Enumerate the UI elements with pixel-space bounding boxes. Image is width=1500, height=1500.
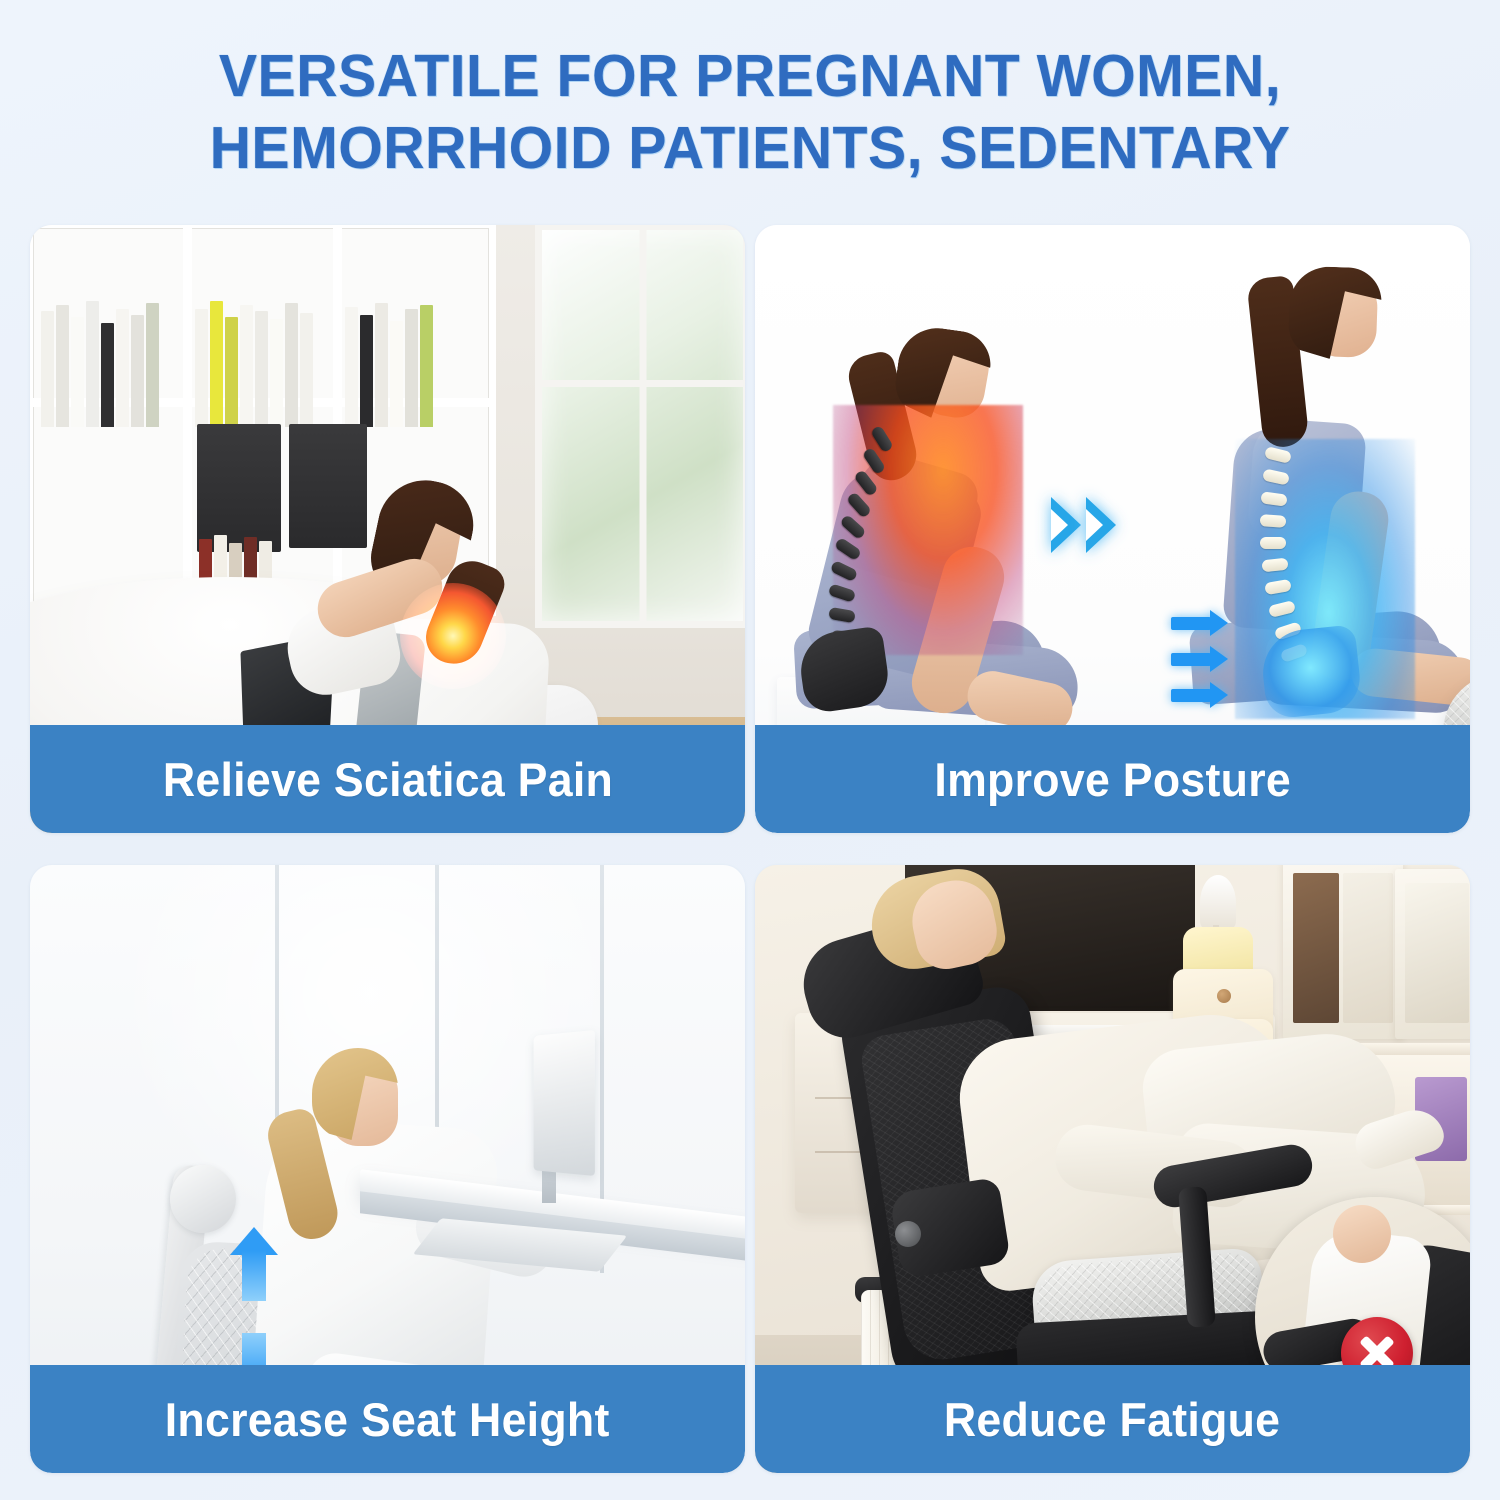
picture-frame-2 — [1395, 869, 1470, 1039]
window — [535, 225, 745, 628]
chevron-arrows — [1051, 497, 1116, 553]
arrow-up-icon — [230, 1227, 278, 1305]
lumbar-adjust-knob — [895, 1221, 921, 1247]
monitor — [534, 1030, 595, 1176]
picture-frame-1 — [1283, 865, 1403, 1039]
pain-glow-neck — [400, 583, 506, 689]
desk-lamp — [1200, 875, 1236, 931]
caption-label-4: Reduce Fatigue — [944, 1392, 1280, 1447]
chevron-icon-2 — [1086, 497, 1116, 553]
support-arrow-1 — [1171, 617, 1211, 630]
caption-label-3: Increase Seat Height — [165, 1392, 610, 1447]
support-arrow-2 — [1171, 653, 1211, 666]
panel-relieve-sciatica-pain[interactable]: Relieve Sciatica Pain — [30, 225, 745, 833]
support-arrow-3 — [1171, 689, 1211, 702]
panel-increase-seat-height[interactable]: Increase Seat Height — [30, 865, 745, 1473]
headline-line-1: VERSATILE FOR PREGNANT WOMEN, — [81, 40, 1420, 112]
caption-label-1: Relieve Sciatica Pain — [162, 752, 612, 807]
caption-bar-3: Increase Seat Height — [30, 1365, 745, 1473]
caption-bar-4: Reduce Fatigue — [755, 1365, 1470, 1473]
headline-line-2: HEMORRHOID PATIENTS, SEDENTARY — [81, 112, 1420, 184]
caption-bar-1: Relieve Sciatica Pain — [30, 725, 745, 833]
headline: VERSATILE FOR PREGNANT WOMEN, HEMORRHOID… — [0, 40, 1500, 184]
caption-bar-2: Improve Posture — [755, 725, 1470, 833]
panel-improve-posture[interactable]: Improve Posture — [755, 225, 1470, 833]
product-infographic: VERSATILE FOR PREGNANT WOMEN, HEMORRHOID… — [0, 0, 1500, 1500]
chair-headrest — [170, 1165, 236, 1233]
benefit-grid: Relieve Sciatica Pain — [30, 225, 1470, 1473]
chevron-icon-1 — [1051, 497, 1081, 553]
panel-reduce-fatigue[interactable]: Reduce Fatigue — [755, 865, 1470, 1473]
caption-label-2: Improve Posture — [934, 752, 1291, 807]
